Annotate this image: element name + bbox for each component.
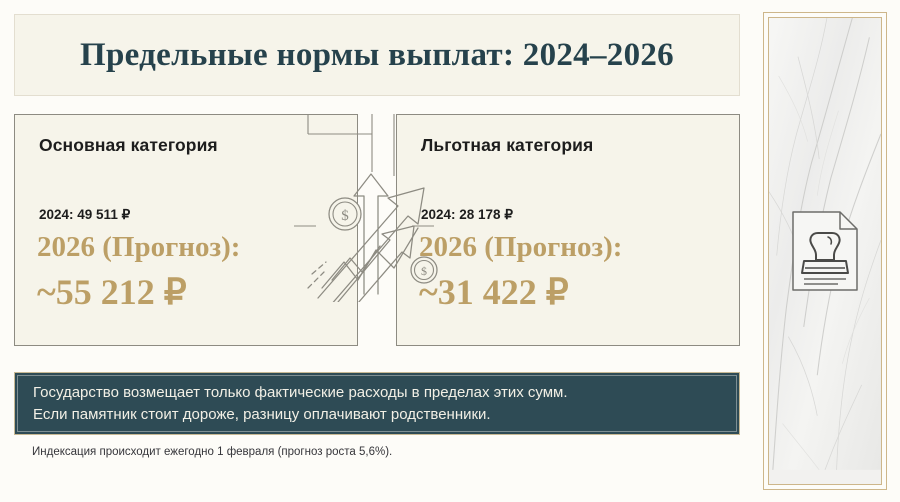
card-forecast-value: ~55 212 ₽ bbox=[37, 271, 187, 313]
notice-line-2: Если памятник стоит дороже, разницу опла… bbox=[33, 404, 721, 425]
card-title: Льготная категория bbox=[421, 135, 715, 156]
card-base-amount: 2024: 28 178 ₽ bbox=[421, 207, 513, 223]
side-column bbox=[755, 0, 900, 502]
title-bar: Предельные нормы выплат: 2024–2026 bbox=[14, 14, 740, 96]
notice-line-1: Государство возмещает только фактические… bbox=[33, 382, 721, 403]
document-stamp-icon bbox=[788, 209, 862, 293]
card-privileged-category: Льготная категория 2024: 28 178 ₽ 2026 (… bbox=[396, 114, 740, 346]
footnote: Индексация происходит ежегодно 1 февраля… bbox=[32, 446, 755, 458]
card-forecast-label: 2026 (Прогноз): bbox=[419, 231, 622, 264]
card-forecast-label: 2026 (Прогноз): bbox=[37, 231, 240, 264]
card-main-category: Основная категория 2024: 49 511 ₽ 2026 (… bbox=[14, 114, 358, 346]
card-base-amount: 2024: 49 511 ₽ bbox=[39, 207, 130, 223]
infographic-page: Предельные нормы выплат: 2024–2026 Основ… bbox=[0, 0, 900, 502]
notice-banner: Государство возмещает только фактические… bbox=[14, 372, 740, 435]
category-cards-row: Основная категория 2024: 49 511 ₽ 2026 (… bbox=[14, 114, 740, 346]
main-column: Предельные нормы выплат: 2024–2026 Основ… bbox=[0, 0, 755, 502]
marble-panel bbox=[763, 12, 887, 490]
marble-panel-inner bbox=[768, 17, 882, 485]
card-forecast-value: ~31 422 ₽ bbox=[419, 271, 569, 313]
page-title: Предельные нормы выплат: 2024–2026 bbox=[80, 37, 674, 74]
card-title: Основная категория bbox=[39, 135, 333, 156]
